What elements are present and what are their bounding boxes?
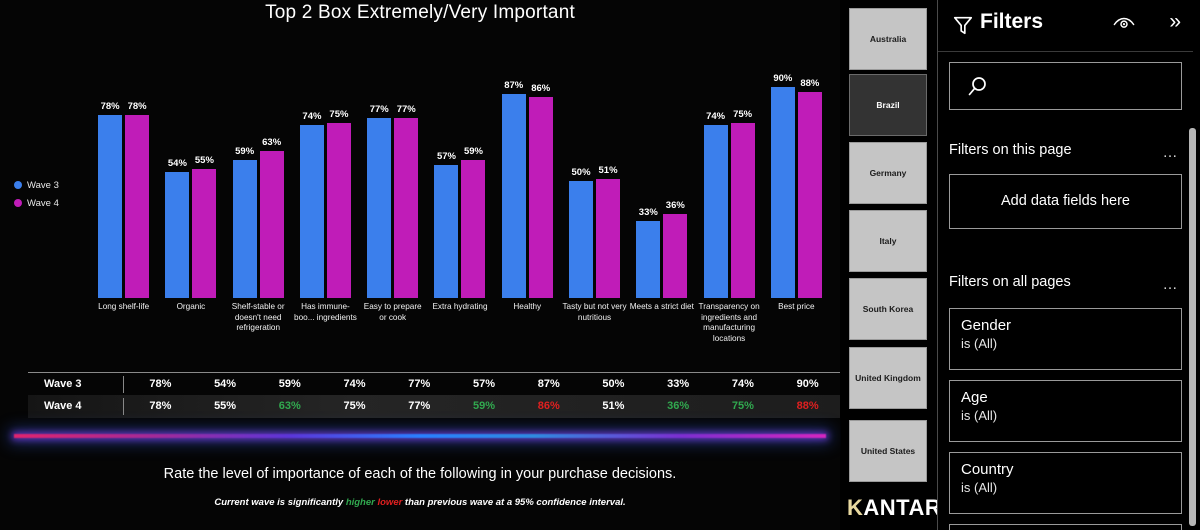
filter-card-country[interactable]: Countryis (All) bbox=[949, 452, 1182, 514]
table-row: Wave 478%55%63%75%77%59%86%51%36%75%88% bbox=[28, 395, 840, 418]
filter-funnel-icon bbox=[952, 14, 974, 41]
bar-wave3[interactable]: 90% bbox=[771, 30, 795, 298]
table-row-divider bbox=[123, 376, 124, 393]
table-row-divider bbox=[123, 398, 124, 415]
slicer-item-australia[interactable]: Australia bbox=[849, 8, 927, 70]
filter-card-age[interactable]: Ageis (All) bbox=[949, 380, 1182, 442]
bar-rect bbox=[771, 87, 795, 298]
category-label: Best price bbox=[763, 302, 830, 313]
bar-group: 57%59% bbox=[426, 30, 493, 298]
chevron-double-right-icon[interactable]: » bbox=[1169, 11, 1181, 32]
slicer-item-germany[interactable]: Germany bbox=[849, 142, 927, 204]
category-label: Organic bbox=[157, 302, 224, 313]
bar-wave4[interactable]: 55% bbox=[192, 30, 216, 298]
table-cell: 77% bbox=[387, 373, 452, 396]
bar-wave4[interactable]: 75% bbox=[327, 30, 351, 298]
bar-value-label: 59% bbox=[235, 146, 254, 157]
table-cell: 78% bbox=[128, 395, 193, 418]
table-cell: 59% bbox=[257, 373, 322, 396]
bar-rect bbox=[327, 123, 351, 299]
bar-value-label: 88% bbox=[800, 78, 819, 89]
bar-rect bbox=[798, 92, 822, 298]
bar-pair: 33%36% bbox=[628, 30, 695, 298]
table-cell: 54% bbox=[193, 373, 258, 396]
table-cell: 77% bbox=[387, 395, 452, 418]
bar-rect bbox=[529, 97, 553, 298]
table-cell: 78% bbox=[128, 373, 193, 396]
bar-rect bbox=[98, 115, 122, 298]
filters-on-all-pages-title-more-button[interactable]: … bbox=[1163, 276, 1180, 293]
bar-pair: 77%77% bbox=[359, 30, 426, 298]
bar-group: 54%55% bbox=[157, 30, 224, 298]
bar-wave3[interactable]: 33% bbox=[636, 30, 660, 298]
filter-field-value: is (All) bbox=[961, 407, 1170, 425]
bar-value-label: 90% bbox=[773, 73, 792, 84]
table-cell: 90% bbox=[775, 373, 840, 396]
bar-pair: 54%55% bbox=[157, 30, 224, 298]
bar-rect bbox=[502, 94, 526, 298]
table-cell: 50% bbox=[581, 373, 646, 396]
add-data-fields-dropzone[interactable]: Add data fields here bbox=[949, 174, 1182, 229]
decorative-divider bbox=[14, 434, 826, 438]
bar-wave4[interactable]: 36% bbox=[663, 30, 687, 298]
filters-search-input[interactable] bbox=[949, 62, 1182, 110]
powerbi-report-page: Top 2 Box Extremely/Very Important Wave … bbox=[0, 0, 1200, 530]
filter-card-gender[interactable]: Genderis (All) bbox=[949, 308, 1182, 370]
bar-pair: 59%63% bbox=[225, 30, 292, 298]
slicer-item-italy[interactable]: Italy bbox=[849, 210, 927, 272]
bar-value-label: 51% bbox=[599, 165, 618, 176]
bar-value-label: 33% bbox=[639, 207, 658, 218]
bar-value-label: 75% bbox=[733, 109, 752, 120]
category-label: Easy to prepare or cook bbox=[359, 302, 426, 323]
category-label: Has immune-boo... ingredients bbox=[292, 302, 359, 323]
slicer-item-south-korea[interactable]: South Korea bbox=[849, 278, 927, 340]
table-row-header: Wave 4 bbox=[44, 395, 82, 418]
table-cell: 74% bbox=[711, 373, 776, 396]
bar-value-label: 78% bbox=[128, 101, 147, 112]
table-cell: 59% bbox=[452, 395, 517, 418]
table-cell: 75% bbox=[711, 395, 776, 418]
bar-rect bbox=[125, 115, 149, 298]
category-label: Tasty but not very nutritious bbox=[561, 302, 628, 323]
bar-wave3[interactable]: 54% bbox=[165, 30, 189, 298]
logo-rest: ANTAR bbox=[863, 495, 941, 520]
bar-wave4[interactable]: 88% bbox=[798, 30, 822, 298]
filter-field-name: Country bbox=[961, 460, 1170, 479]
legend-item-wave3[interactable]: Wave 3 bbox=[14, 176, 59, 194]
bar-rect bbox=[394, 118, 418, 298]
table-cell: 57% bbox=[452, 373, 517, 396]
bar-pair: 90%88% bbox=[763, 30, 830, 298]
chart-legend: Wave 3 Wave 4 bbox=[14, 176, 59, 212]
bar-value-label: 55% bbox=[195, 155, 214, 166]
bar-wave4[interactable]: 63% bbox=[260, 30, 284, 298]
bar-rect bbox=[367, 118, 391, 298]
table-cell: 33% bbox=[646, 373, 711, 396]
slicer-item-united-states[interactable]: United States bbox=[849, 420, 927, 482]
bar-wave4[interactable]: 77% bbox=[394, 30, 418, 298]
table-cell: 87% bbox=[516, 373, 581, 396]
country-slicer: AustraliaBrazilGermanyItalySouth KoreaUn… bbox=[841, 0, 937, 530]
bar-rect bbox=[192, 169, 216, 298]
question-text: Rate the level of importance of each of … bbox=[0, 466, 840, 482]
legend-swatch-wave4 bbox=[14, 199, 22, 207]
chart-title: Top 2 Box Extremely/Very Important bbox=[0, 2, 840, 24]
bar-pair: 50%51% bbox=[561, 30, 628, 298]
bar-pair: 57%59% bbox=[426, 30, 493, 298]
filters-on-this-page-title: Filters on this page bbox=[949, 142, 1072, 158]
category-label: Meets a strict diet bbox=[628, 302, 695, 313]
bar-value-label: 59% bbox=[464, 146, 483, 157]
bar-value-label: 87% bbox=[504, 80, 523, 91]
table-row: Wave 378%54%59%74%77%57%87%50%33%74%90% bbox=[28, 372, 840, 395]
filters-pane-body: Filters on this page…Add data fields her… bbox=[938, 122, 1193, 530]
bar-group: 59%63% bbox=[225, 30, 292, 298]
bar-wave4[interactable]: 51% bbox=[596, 30, 620, 298]
bar-rect bbox=[636, 221, 660, 298]
table-cell: 75% bbox=[322, 395, 387, 418]
filters-pane: Filters » Filters on this page…Add data … bbox=[937, 0, 1200, 530]
bar-group: 33%36% bbox=[628, 30, 695, 298]
bar-pair: 78%78% bbox=[90, 30, 157, 298]
slicer-item-united-kingdom[interactable]: United Kingdom bbox=[849, 347, 927, 409]
filter-field-name: Gender bbox=[961, 316, 1170, 335]
table-cell: 51% bbox=[581, 395, 646, 418]
bar-rect bbox=[663, 214, 687, 298]
bar-value-label: 63% bbox=[262, 137, 281, 148]
filters-pane-title: Filters bbox=[980, 10, 1043, 34]
table-cell: 36% bbox=[646, 395, 711, 418]
bar-value-label: 75% bbox=[329, 109, 348, 120]
bar-wave4[interactable]: 75% bbox=[731, 30, 755, 298]
category-label: Healthy bbox=[494, 302, 561, 313]
filter-field-value: is (All) bbox=[961, 335, 1170, 353]
bar-value-label: 77% bbox=[370, 104, 389, 115]
legend-item-wave4[interactable]: Wave 4 bbox=[14, 194, 59, 212]
bar-rect bbox=[731, 123, 755, 299]
table-cell: 74% bbox=[322, 373, 387, 396]
logo-k: K bbox=[847, 495, 863, 520]
table-cell: 86% bbox=[516, 395, 581, 418]
category-label: Long shelf-life bbox=[90, 302, 157, 313]
search-icon bbox=[966, 75, 990, 104]
bar-wave3[interactable]: 57% bbox=[434, 30, 458, 298]
table-cell: 55% bbox=[193, 395, 258, 418]
filters-pane-scrollbar[interactable] bbox=[1189, 128, 1196, 526]
bar-rect bbox=[233, 160, 257, 298]
bar-wave3[interactable]: 74% bbox=[300, 30, 324, 298]
category-label: Extra hydrating bbox=[426, 302, 493, 313]
bar-pair: 87%86% bbox=[494, 30, 561, 298]
table-cell: 88% bbox=[775, 395, 840, 418]
bar-value-label: 74% bbox=[706, 111, 725, 122]
legend-swatch-wave3 bbox=[14, 181, 22, 189]
bar-wave4[interactable]: 59% bbox=[461, 30, 485, 298]
dropzone-label: Add data fields here bbox=[1001, 192, 1130, 211]
category-axis-labels: Long shelf-lifeOrganicShelf-stable or do… bbox=[90, 302, 830, 372]
category-label: Shelf-stable or doesn't need refrigerati… bbox=[225, 302, 292, 334]
kantar-logo: KANTAR bbox=[847, 495, 937, 521]
filter-field-name: Age bbox=[961, 388, 1170, 407]
bar-wave3[interactable]: 77% bbox=[367, 30, 391, 298]
bar-rect bbox=[596, 179, 620, 298]
bar-value-label: 36% bbox=[666, 200, 685, 211]
sig-note-higher: higher bbox=[346, 497, 375, 508]
slicer-item-brazil[interactable]: Brazil bbox=[849, 74, 927, 136]
bar-chart-plot-area: 78%78%54%55%59%63%74%75%77%77%57%59%87%8… bbox=[90, 30, 830, 298]
bar-value-label: 54% bbox=[168, 158, 187, 169]
bar-group: 50%51% bbox=[561, 30, 628, 298]
bar-rect bbox=[704, 125, 728, 298]
sig-note-pre: Current wave is significantly bbox=[214, 497, 345, 508]
table-row-header: Wave 3 bbox=[44, 373, 82, 396]
bar-rect bbox=[461, 160, 485, 298]
bar-value-label: 57% bbox=[437, 151, 456, 162]
bar-wave3[interactable]: 59% bbox=[233, 30, 257, 298]
bar-rect bbox=[300, 125, 324, 298]
table-cell: 63% bbox=[257, 395, 322, 418]
filters-on-all-pages-title: Filters on all pages bbox=[949, 274, 1071, 290]
sig-note-post: than previous wave at a 95% confidence i… bbox=[402, 497, 625, 508]
bar-group: 90%88% bbox=[763, 30, 830, 298]
bar-group: 74%75% bbox=[695, 30, 762, 298]
report-canvas: Top 2 Box Extremely/Very Important Wave … bbox=[0, 0, 840, 530]
bar-value-label: 50% bbox=[572, 167, 591, 178]
bar-rect bbox=[434, 165, 458, 298]
filter-field-value: is (All) bbox=[961, 479, 1170, 497]
bar-rect bbox=[260, 151, 284, 298]
values-table: Wave 378%54%59%74%77%57%87%50%33%74%90%W… bbox=[28, 372, 840, 418]
bar-value-label: 74% bbox=[302, 111, 321, 122]
sig-note-lower: lower bbox=[377, 497, 402, 508]
bar-wave3[interactable]: 74% bbox=[704, 30, 728, 298]
bar-rect bbox=[165, 172, 189, 298]
filter-card-partial[interactable] bbox=[949, 524, 1182, 530]
significance-note: Current wave is significantly higher low… bbox=[0, 497, 840, 508]
bar-wave4[interactable]: 78% bbox=[125, 30, 149, 298]
bar-wave3[interactable]: 50% bbox=[569, 30, 593, 298]
category-label: Transparency on ingredients and manufact… bbox=[695, 302, 762, 344]
bar-value-label: 86% bbox=[531, 83, 550, 94]
bar-rect bbox=[569, 181, 593, 298]
legend-label-wave3: Wave 3 bbox=[27, 180, 59, 191]
bar-wave3[interactable]: 78% bbox=[98, 30, 122, 298]
bar-value-label: 77% bbox=[397, 104, 416, 115]
bar-group: 77%77% bbox=[359, 30, 426, 298]
bar-pair: 74%75% bbox=[695, 30, 762, 298]
bar-pair: 74%75% bbox=[292, 30, 359, 298]
filters-on-this-page-title-more-button[interactable]: … bbox=[1163, 144, 1180, 161]
bar-group: 87%86% bbox=[494, 30, 561, 298]
filters-pane-header: Filters » bbox=[938, 0, 1193, 52]
bar-wave3[interactable]: 87% bbox=[502, 30, 526, 298]
bar-value-label: 78% bbox=[101, 101, 120, 112]
eye-icon[interactable] bbox=[1113, 17, 1135, 37]
bar-wave4[interactable]: 86% bbox=[529, 30, 553, 298]
legend-label-wave4: Wave 4 bbox=[27, 198, 59, 209]
bar-group: 74%75% bbox=[292, 30, 359, 298]
bar-group: 78%78% bbox=[90, 30, 157, 298]
